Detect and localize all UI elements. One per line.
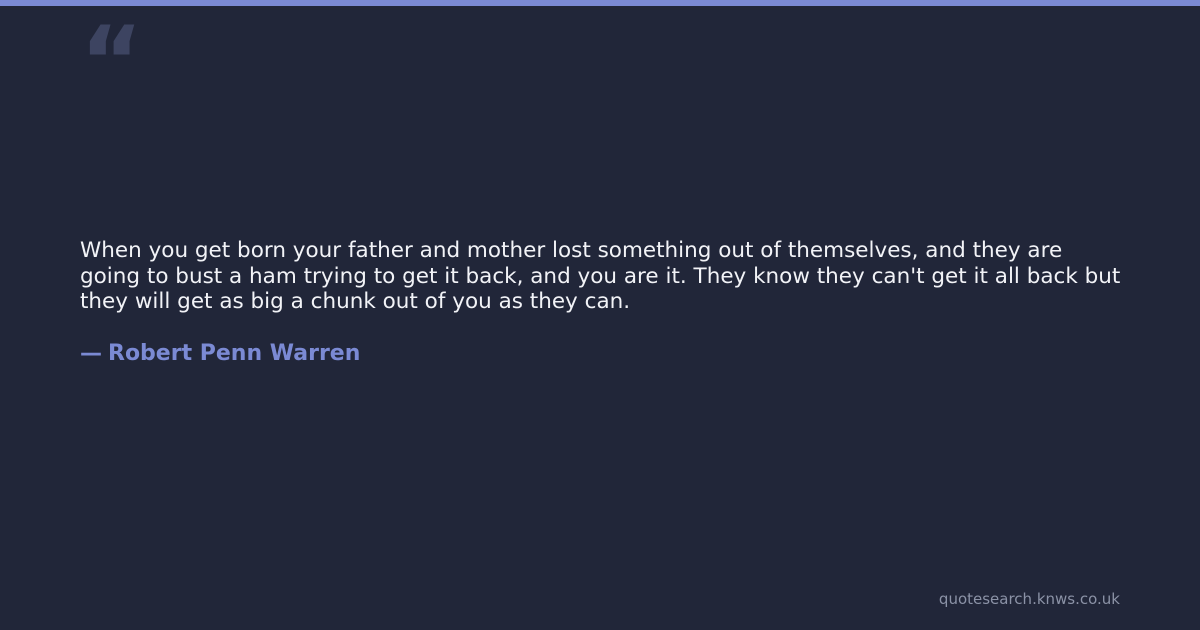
quotation-mark-icon: “ xyxy=(80,14,141,110)
quote-attribution: —Robert Penn Warren xyxy=(80,340,360,368)
top-accent-bar xyxy=(0,0,1200,6)
quote-text: When you get born your father and mother… xyxy=(80,238,1122,315)
quote-author: Robert Penn Warren xyxy=(108,341,360,366)
attribution-dash: — xyxy=(80,341,102,366)
quote-card: “ When you get born your father and moth… xyxy=(0,0,1200,630)
site-url-label: quotesearch.knws.co.uk xyxy=(939,590,1120,608)
